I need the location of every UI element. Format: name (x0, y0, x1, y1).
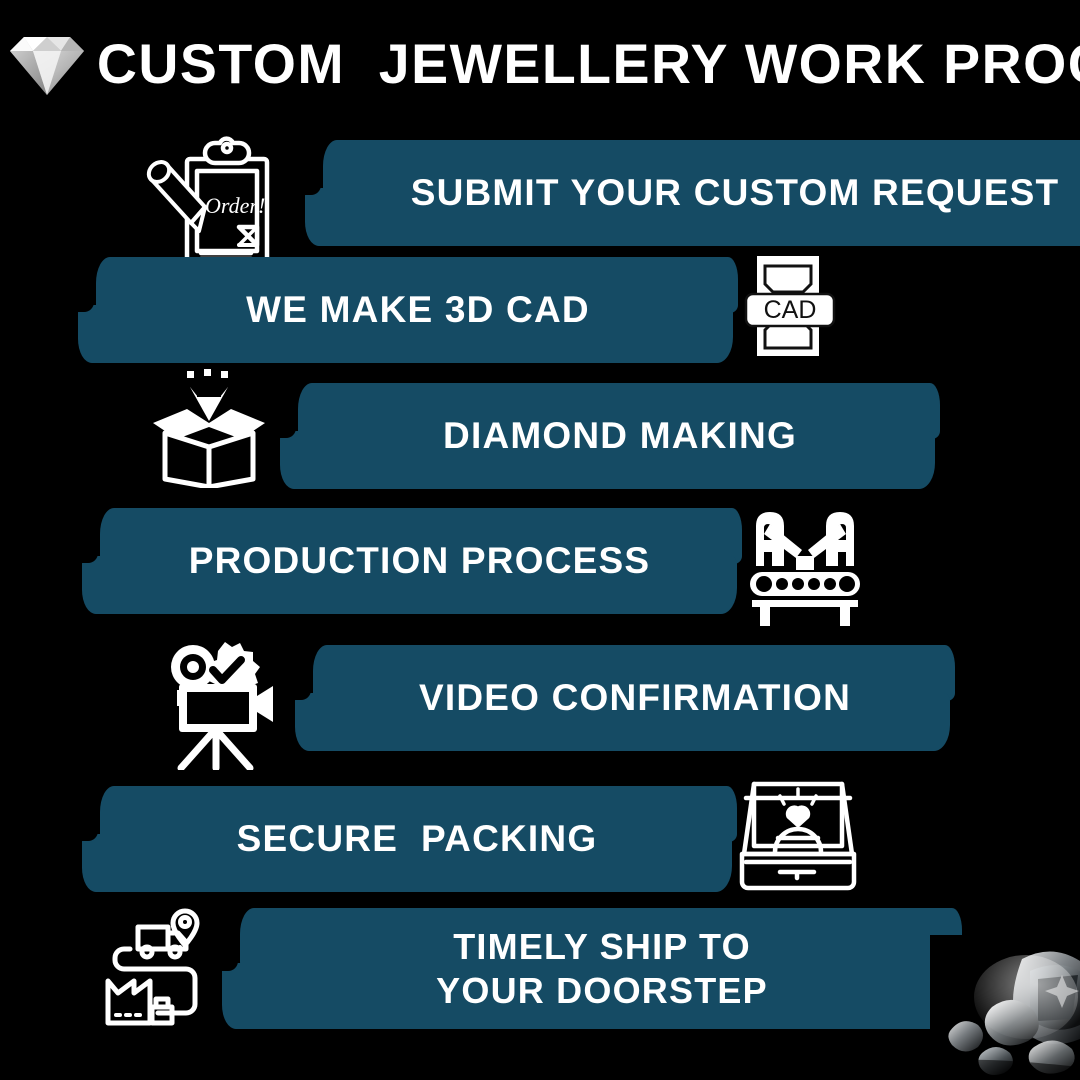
step-label-6: SECURE PACKING (82, 786, 737, 891)
step-banner-6[interactable]: SECURE PACKING (82, 786, 737, 891)
step-banner-2[interactable]: WE MAKE 3D CAD (78, 257, 738, 362)
step-banner-4[interactable]: PRODUCTION PROCESS (82, 508, 742, 613)
step-banner-3[interactable]: DIAMOND MAKING (280, 383, 940, 488)
header: CUSTOM JEWELLERY WORK PROCESS (0, 0, 1080, 120)
step-banner-1[interactable]: SUBMIT YOUR CUSTOM REQUEST (305, 140, 1080, 245)
conveyor-robot-arms-icon (740, 508, 870, 626)
step-label-2: WE MAKE 3D CAD (78, 257, 738, 362)
step-label-5: VIDEO CONFIRMATION (295, 645, 955, 750)
step-label-7: TIMELY SHIP TO YOUR DOORSTEP (222, 908, 962, 1030)
step-label-3: DIAMOND MAKING (280, 383, 940, 488)
step-label-7-line1: TIMELY SHIP TO (453, 925, 751, 969)
cad-printer-text: CAD (764, 296, 817, 324)
ring-box-heart-icon (728, 776, 868, 896)
clipboard-order-text: Order! (205, 193, 265, 218)
step-label-7-line2: YOUR DOORSTEP (436, 969, 768, 1013)
factory-truck-route-pin-icon (100, 903, 225, 1031)
cad-printer-icon: CAD (735, 252, 845, 362)
step-banner-7[interactable]: TIMELY SHIP TO YOUR DOORSTEP (222, 908, 962, 1030)
step-label-1: SUBMIT YOUR CUSTOM REQUEST (305, 140, 1080, 245)
infographic-canvas: CUSTOM JEWELLERY WORK PROCESS SUBMIT YOU… (0, 0, 1080, 1080)
video-camera-check-icon (163, 630, 288, 770)
diamond-gem-icon (2, 25, 92, 97)
clipboard-order-pencil-icon: Order! (135, 135, 285, 270)
page-title: CUSTOM JEWELLERY WORK PROCESS (97, 28, 1062, 98)
step-label-4: PRODUCTION PROCESS (82, 508, 742, 613)
open-box-diamond-icon (145, 363, 275, 488)
step-banner-5[interactable]: VIDEO CONFIRMATION (295, 645, 955, 750)
